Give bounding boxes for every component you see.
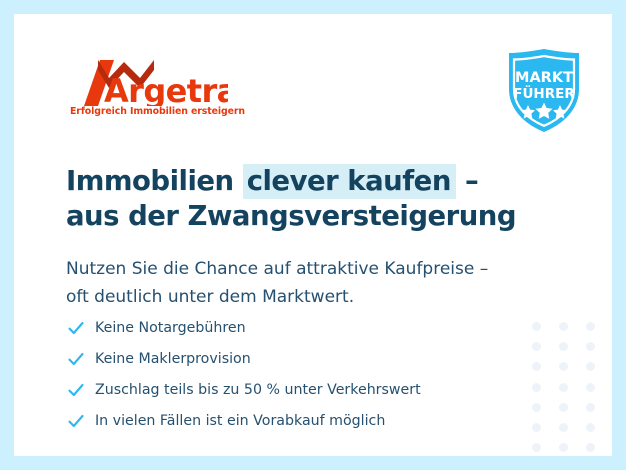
check-icon — [67, 350, 95, 368]
promo-banner: Argetra Erfolgreich Immobilien ersteiger… — [0, 0, 626, 470]
grid-dot — [559, 322, 568, 331]
argetra-logo-mark: Argetra — [68, 56, 228, 106]
grid-dot — [559, 342, 568, 351]
grid-dot — [559, 443, 568, 452]
grid-dot — [586, 362, 595, 371]
badge-line1: MARKT — [515, 70, 573, 86]
headline-line-2: aus der Zwangsversteigerung — [66, 199, 536, 234]
benefit-label: Zuschlag teils bis zu 50 % unter Verkehr… — [95, 382, 421, 398]
benefit-item: Zuschlag teils bis zu 50 % unter Verkehr… — [67, 374, 537, 405]
headline-suffix: – — [456, 165, 478, 197]
grid-dot — [559, 423, 568, 432]
market-leader-badge: MARKT FÜHRER — [503, 47, 585, 135]
benefit-item: Keine Notargebühren — [67, 312, 537, 343]
benefit-label: In vielen Fällen ist ein Vorabkauf mögli… — [95, 413, 385, 429]
grid-dot — [586, 443, 595, 452]
badge-line2: FÜHRER — [513, 84, 575, 102]
subheadline-line-2: oft deutlich unter dem Marktwert. — [66, 283, 566, 311]
grid-dot — [586, 342, 595, 351]
grid-dot — [532, 443, 541, 452]
subheadline: Nutzen Sie die Chance auf attraktive Kau… — [66, 255, 566, 311]
argetra-logo[interactable]: Argetra Erfolgreich Immobilien ersteiger… — [68, 56, 228, 122]
logo-tagline: Erfolgreich Immobilien ersteigern — [70, 106, 245, 117]
grid-dot — [559, 403, 568, 412]
check-icon — [67, 412, 95, 430]
grid-dot — [586, 423, 595, 432]
benefit-list: Keine NotargebührenKeine Maklerprovision… — [67, 312, 537, 436]
content-card: Argetra Erfolgreich Immobilien ersteiger… — [14, 14, 612, 456]
grid-dot — [559, 362, 568, 371]
subheadline-line-1: Nutzen Sie die Chance auf attraktive Kau… — [66, 255, 566, 283]
headline: Immobilien clever kaufen – aus der Zwang… — [66, 164, 536, 234]
benefit-item: Keine Maklerprovision — [67, 343, 537, 374]
benefit-item: In vielen Fällen ist ein Vorabkauf mögli… — [67, 405, 537, 436]
headline-highlight: clever kaufen — [243, 164, 456, 199]
headline-prefix: Immobilien — [66, 165, 243, 197]
grid-dot — [586, 383, 595, 392]
check-icon — [67, 319, 95, 337]
svg-text:Argetra: Argetra — [104, 72, 228, 106]
check-icon — [67, 381, 95, 399]
benefit-label: Keine Maklerprovision — [95, 351, 251, 367]
grid-dot — [586, 403, 595, 412]
benefit-label: Keine Notargebühren — [95, 320, 246, 336]
headline-line-1: Immobilien clever kaufen – — [66, 164, 536, 199]
grid-dot — [559, 383, 568, 392]
grid-dot — [586, 322, 595, 331]
